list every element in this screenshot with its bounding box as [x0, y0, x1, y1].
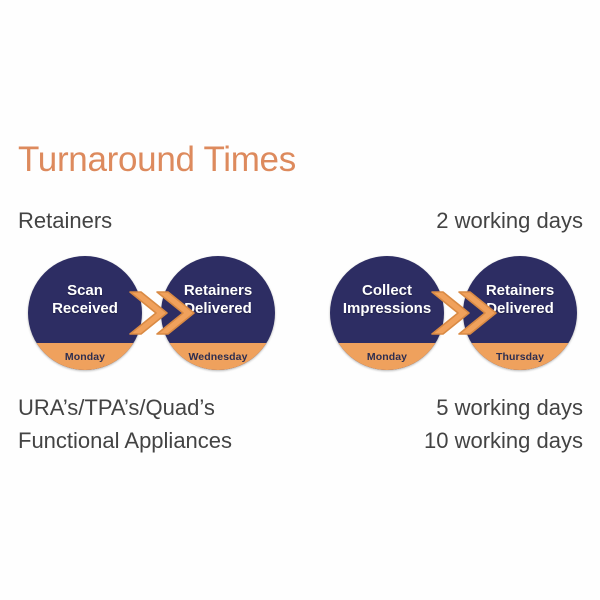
flow-node-day-band: Monday — [330, 343, 444, 370]
double-chevron-right-icon — [428, 284, 500, 342]
flow-node-scan-received: Scan Received Monday — [28, 256, 142, 370]
flow-node-collect-impressions: Collect Impressions Monday — [330, 256, 444, 370]
flow-node-title-line: Impressions — [343, 300, 431, 317]
row-value-ura-tpa-quad: 5 working days — [436, 395, 583, 421]
flow-node-title-line: Collect — [362, 282, 412, 299]
flow-node-day-band: Monday — [28, 343, 142, 370]
page-title: Turnaround Times — [18, 140, 296, 180]
row-value-functional-appliances: 10 working days — [424, 428, 583, 454]
flow-node-day-band: Wednesday — [161, 343, 275, 370]
flow-node-day-label: Monday — [367, 351, 407, 363]
flow-node-day-band: Thursday — [463, 343, 577, 370]
flow-node-title: Collect Impressions — [330, 256, 444, 343]
flow-node-title-line: Received — [52, 300, 118, 317]
flow-node-day-label: Monday — [65, 351, 105, 363]
row-value-retainers: 2 working days — [436, 208, 583, 234]
flow-diagram-appliances: Collect Impressions Monday Retainers Del… — [330, 256, 580, 370]
slide-canvas: Turnaround Times Retainers 2 working day… — [0, 0, 600, 600]
row-label-functional-appliances: Functional Appliances — [18, 428, 232, 454]
flow-diagram-retainers: Scan Received Monday Retainers Delivered… — [28, 256, 278, 370]
row-label-retainers: Retainers — [18, 208, 112, 234]
flow-node-title: Scan Received — [28, 256, 142, 343]
flow-node-title-line: Scan — [67, 282, 103, 299]
flow-node-day-label: Wednesday — [188, 351, 247, 363]
row-label-ura-tpa-quad: URA’s/TPA’s/Quad’s — [18, 395, 215, 421]
flow-node-day-label: Thursday — [496, 351, 544, 363]
double-chevron-right-icon — [126, 284, 198, 342]
